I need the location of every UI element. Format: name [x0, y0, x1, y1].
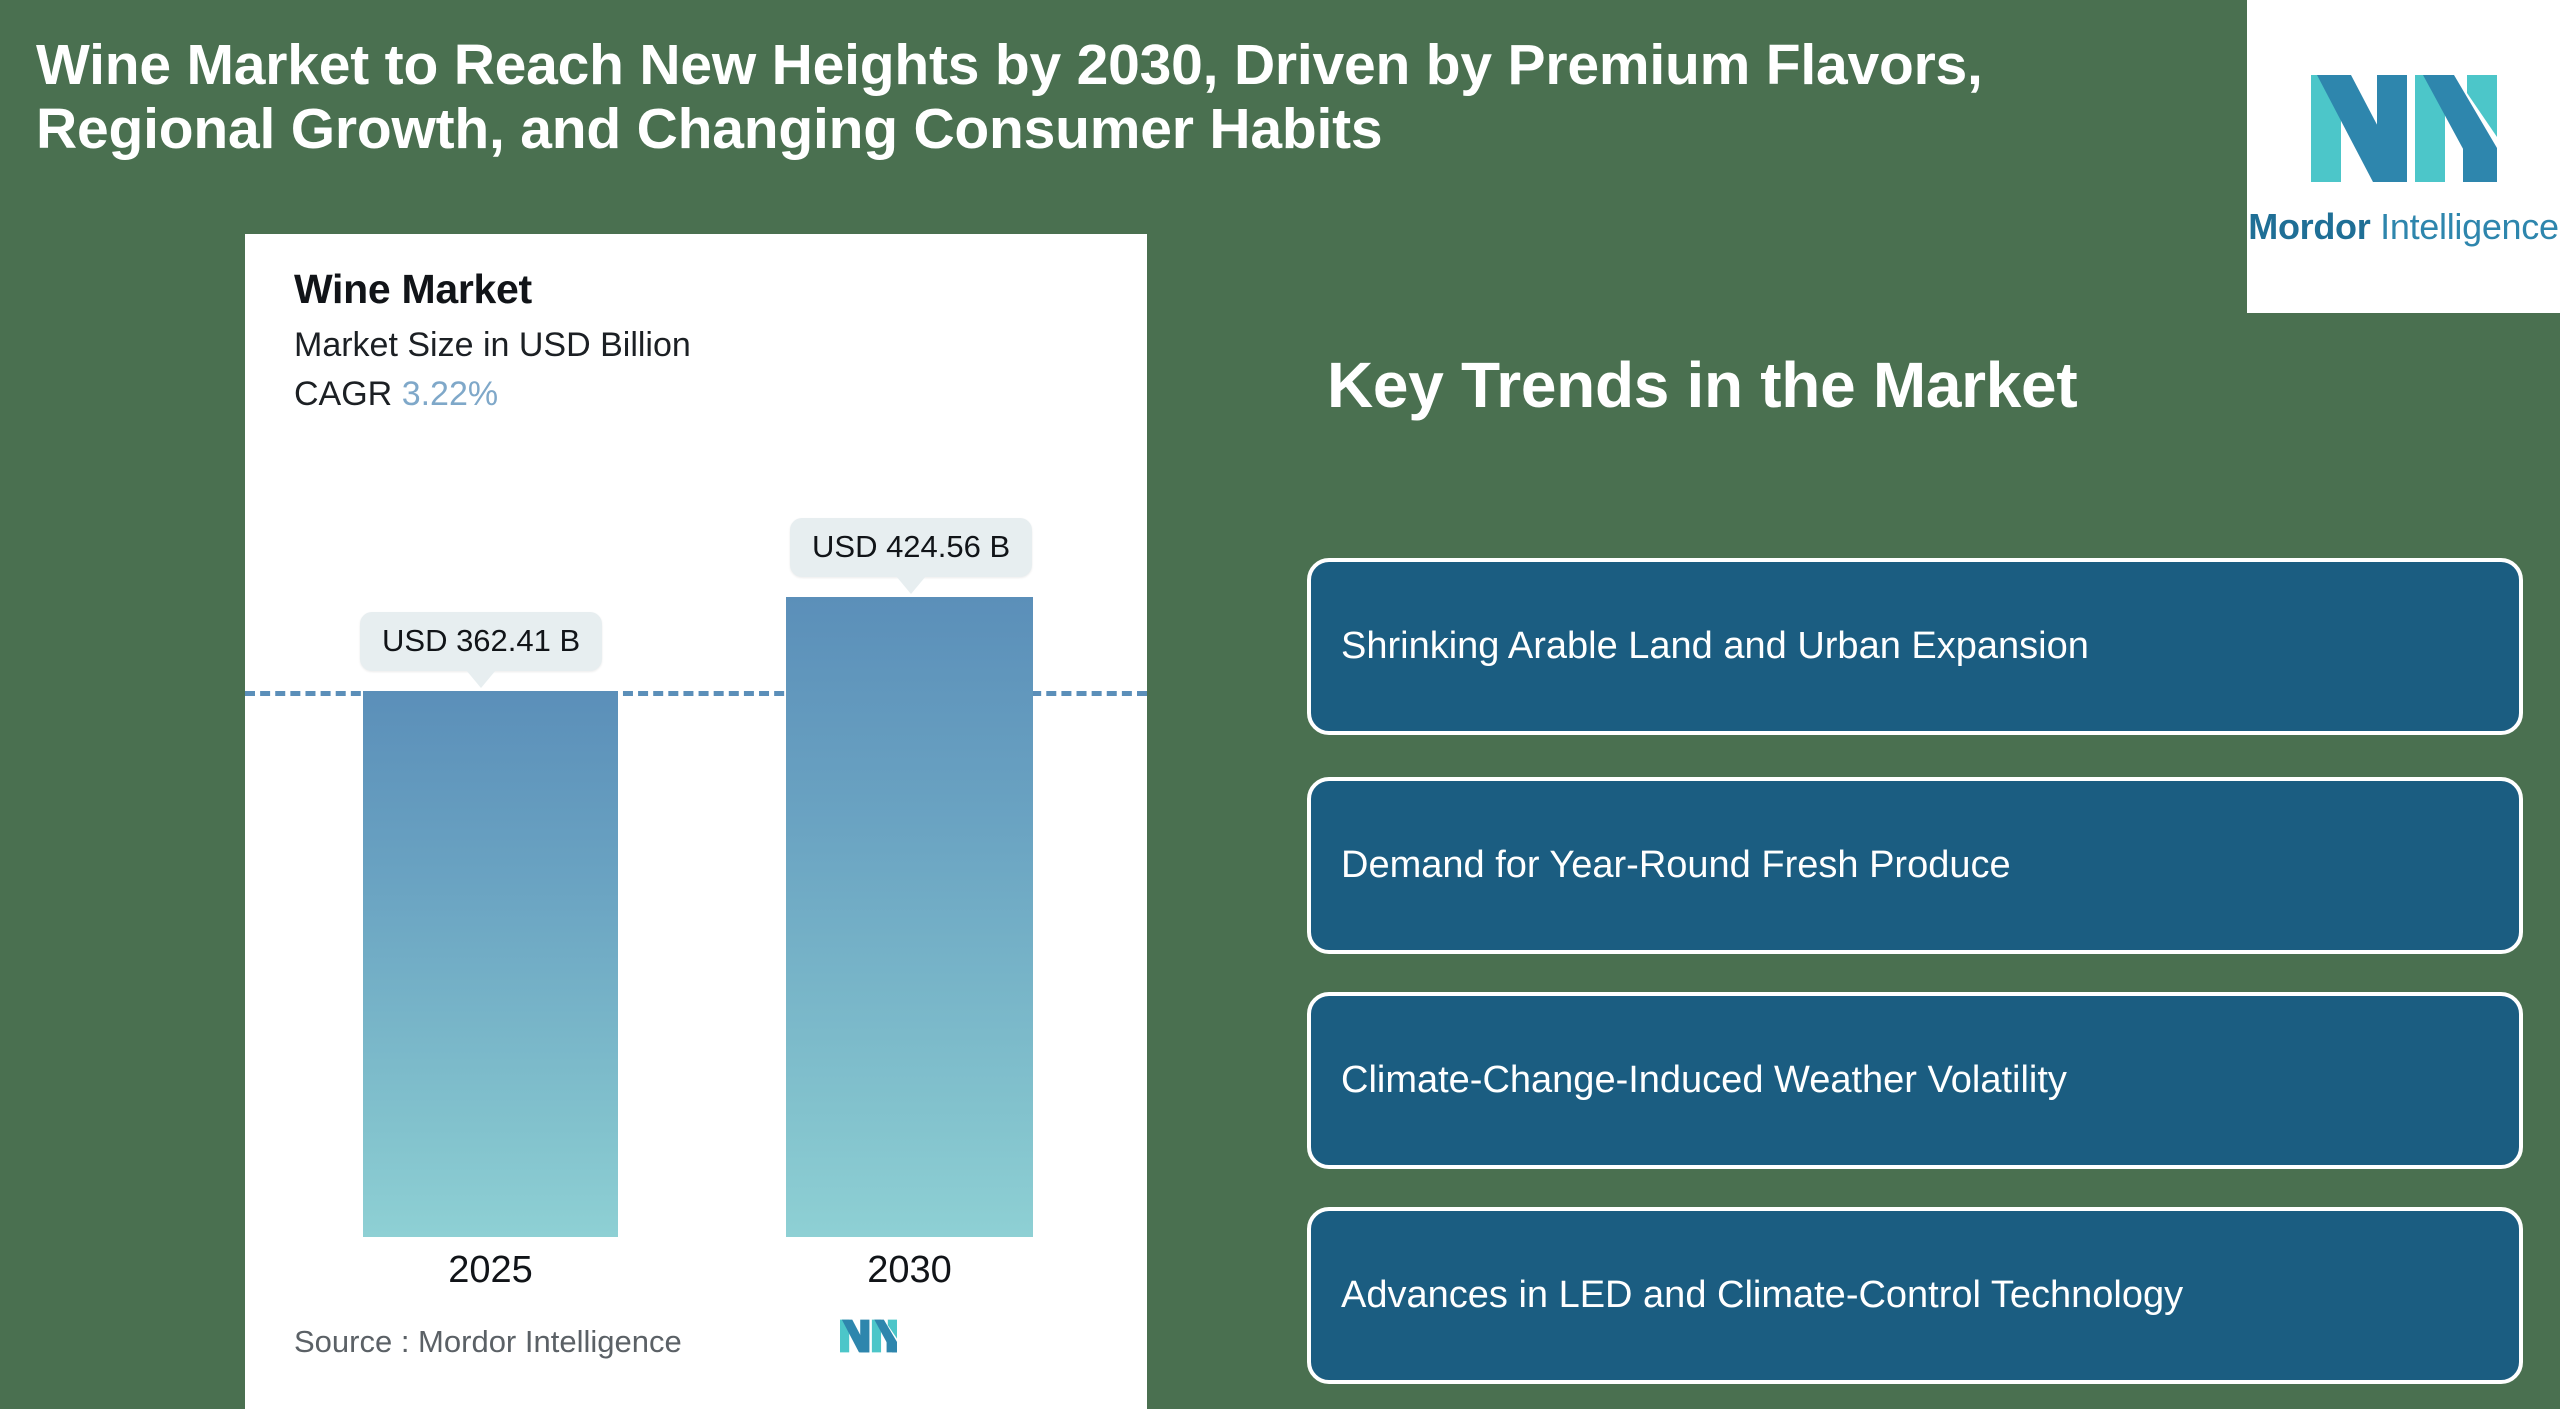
infographic-canvas: Wine Market to Reach New Heights by 2030…: [0, 0, 2560, 1409]
brand-wordmark: Mordor Intelligence: [2248, 206, 2558, 248]
trend-card-3-label: Climate-Change-Induced Weather Volatilit…: [1311, 1058, 2091, 1104]
value-label-2030-text: USD 424.56 B: [812, 529, 1010, 564]
value-label-2025: USD 362.41 B: [360, 612, 602, 671]
trend-card-4[interactable]: Advances in LED and Climate-Control Tech…: [1307, 1207, 2523, 1384]
key-trends-heading: Key Trends in the Market: [1327, 348, 2077, 422]
market-size-chart-card: Wine Market Market Size in USD Billion C…: [245, 234, 1147, 1409]
trend-card-1[interactable]: Shrinking Arable Land and Urban Expansio…: [1307, 558, 2523, 735]
mordor-intelligence-logo-icon: [2311, 65, 2497, 192]
value-label-2025-text: USD 362.41 B: [382, 623, 580, 658]
brand-name-light: Intelligence: [2370, 206, 2558, 247]
x-axis-label-2030: 2030: [786, 1249, 1033, 1292]
bar-chart-plot-area: USD 362.41 B USD 424.56 B 2025 2030: [245, 234, 1147, 1409]
brand-name-bold: Mordor: [2248, 206, 2370, 247]
x-axis-label-2025: 2025: [363, 1249, 618, 1292]
trend-card-2[interactable]: Demand for Year-Round Fresh Produce: [1307, 777, 2523, 954]
bar-2030: [786, 597, 1033, 1237]
trend-card-3[interactable]: Climate-Change-Induced Weather Volatilit…: [1307, 992, 2523, 1169]
value-label-2030: USD 424.56 B: [790, 518, 1032, 577]
tooltip-tail-icon: [896, 576, 926, 594]
trend-card-4-label: Advances in LED and Climate-Control Tech…: [1311, 1273, 2207, 1319]
page-title: Wine Market to Reach New Heights by 2030…: [36, 34, 2116, 162]
trend-card-1-label: Shrinking Arable Land and Urban Expansio…: [1311, 624, 2113, 670]
source-mordor-logo-icon: [840, 1314, 897, 1358]
bar-2025: [363, 691, 618, 1237]
chart-source: Source : Mordor Intelligence: [294, 1324, 682, 1360]
brand-logo-panel: Mordor Intelligence: [2247, 0, 2560, 313]
trend-card-2-label: Demand for Year-Round Fresh Produce: [1311, 843, 2035, 889]
tooltip-tail-icon: [466, 670, 496, 688]
